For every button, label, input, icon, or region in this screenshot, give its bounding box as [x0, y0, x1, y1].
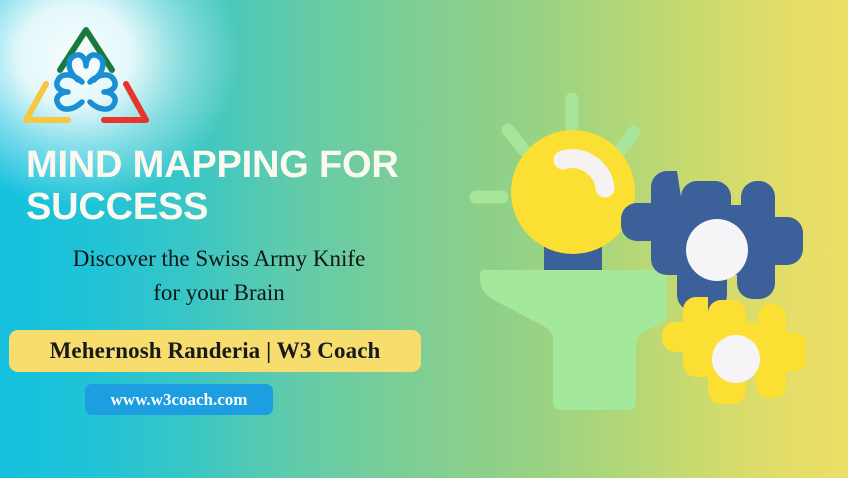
presenter-name-banner: Mehernosh Randeria | W3 Coach	[9, 330, 421, 372]
idea-funnel-gears-illustration	[466, 84, 806, 414]
subtitle: Discover the Swiss Army Knifefor your Br…	[0, 242, 452, 310]
copy-column: MIND MAPPING FORSUCCESS Discover the Swi…	[0, 144, 452, 415]
presenter-name-text: Mehernosh Randeria | W3 Coach	[50, 338, 381, 364]
gear-yellow-icon	[662, 297, 806, 404]
page-title: MIND MAPPING FORSUCCESS	[0, 144, 452, 228]
gear-blue-hub	[686, 219, 748, 281]
headline-line-1: MIND MAPPING FOR	[26, 144, 399, 186]
subtitle-line-2: for your Brain	[153, 280, 285, 305]
subtitle-line-1: Discover the Swiss Army Knife	[73, 246, 366, 271]
lightbulb-icon	[511, 130, 635, 254]
headline-line-2: SUCCESS	[26, 186, 208, 228]
website-url-badge[interactable]: www.w3coach.com	[85, 384, 273, 415]
promo-banner: MIND MAPPING FORSUCCESS Discover the Swi…	[0, 0, 848, 478]
w3-coach-logo[interactable]	[18, 12, 154, 136]
gear-yellow-hub	[712, 335, 760, 383]
website-url-text: www.w3coach.com	[111, 390, 248, 410]
funnel-icon	[480, 270, 667, 410]
